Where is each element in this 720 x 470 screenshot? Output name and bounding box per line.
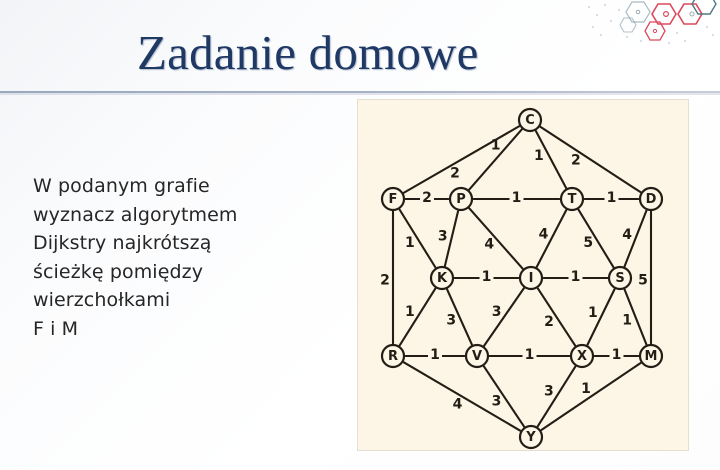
graph-node-label-F: F (389, 192, 398, 207)
weighted-graph-diagram: 211221112344545111332111114331 CFPTDKISR… (358, 100, 688, 450)
graph-node-label-I: I (529, 271, 534, 286)
graph-edge-weight-T-D: 1 (607, 190, 617, 206)
graph-edge-weight-C-T: 1 (534, 148, 544, 164)
graph-node-label-K: K (437, 271, 448, 286)
graph-edge-weight-S-M: 1 (622, 312, 632, 328)
graph-edge-weight-V-X: 1 (525, 347, 535, 363)
graph-edge-weight-R-Y: 4 (453, 396, 463, 412)
graph-node-M: M (640, 345, 662, 367)
graph-edge-I-V (484, 288, 524, 345)
graph-edge-weight-P-K: 3 (438, 228, 448, 244)
graph-figure-panel: 211221112344545111332111114331 CFPTDKISR… (358, 100, 688, 450)
graph-edge-weight-D-S: 4 (622, 227, 632, 243)
graph-node-X: X (571, 345, 593, 367)
graph-node-V: V (466, 345, 488, 367)
graph-edge-weight-I-S: 1 (571, 269, 581, 285)
graph-edge-weight-F-K: 1 (405, 235, 415, 251)
graph-edge-weight-C-D: 2 (571, 153, 581, 169)
graph-edge-weight-P-I: 4 (484, 236, 494, 252)
graph-node-F: F (382, 188, 404, 210)
graph-node-label-S: S (615, 271, 624, 286)
graph-node-I: I (520, 267, 542, 289)
graph-edge-V-Y (484, 366, 524, 426)
graph-edge-weight-I-V: 3 (492, 304, 502, 320)
graph-edge-weight-F-R: 2 (380, 273, 390, 289)
graph-node-label-V: V (472, 349, 482, 364)
graph-node-P: P (450, 188, 472, 210)
graph-node-S: S (609, 267, 631, 289)
graph-edge-C-D (540, 127, 640, 192)
slide-canvas: Zadanie domowe W podanym grafie wyznacz … (0, 0, 720, 470)
graph-edge-weight-V-Y: 3 (492, 393, 502, 409)
graph-edge-weight-I-X: 2 (544, 314, 554, 330)
graph-node-label-X: X (577, 349, 587, 364)
graph-edge-weight-M-Y: 1 (581, 381, 591, 397)
graph-edge-weight-F-C: 2 (450, 166, 460, 182)
graph-node-Y: Y (520, 426, 542, 448)
graph-edge-weight-K-I: 1 (482, 269, 492, 285)
body-paragraph: W podanym grafie wyznacz algorytmem Dijk… (33, 172, 333, 343)
page-title: Zadanie domowe (137, 22, 479, 84)
graph-edge-F-C (404, 126, 519, 193)
graph-edge-weight-R-V: 1 (430, 347, 440, 363)
graph-edge-weight-X-Y: 3 (544, 384, 554, 400)
graph-node-layer: CFPTDKISRVXMY (382, 109, 662, 448)
graph-edge-weight-K-R: 1 (405, 304, 415, 320)
title-block: Zadanie domowe (0, 22, 720, 92)
graph-node-C: C (519, 109, 541, 131)
graph-node-T: T (561, 188, 583, 210)
graph-edge-weight-D-M: 5 (638, 273, 648, 289)
title-divider-shadow (0, 93, 720, 95)
graph-node-K: K (431, 267, 453, 289)
graph-node-label-P: P (456, 192, 466, 207)
graph-edge-weight-S-X: 1 (588, 305, 598, 321)
graph-edge-weight-X-M: 1 (612, 347, 622, 363)
graph-edge-weight-K-V: 3 (446, 313, 456, 329)
graph-node-D: D (640, 188, 662, 210)
graph-edge-weight-F-P: 2 (422, 190, 432, 206)
graph-node-label-T: T (568, 192, 577, 207)
graph-node-label-C: C (525, 113, 535, 128)
graph-node-label-D: D (646, 192, 657, 207)
graph-edge-weight-P-T: 1 (512, 190, 522, 206)
graph-node-label-R: R (388, 349, 398, 364)
graph-node-label-Y: Y (525, 430, 536, 445)
graph-edge-P-I (469, 208, 522, 268)
graph-edge-weight-C-P: 1 (491, 138, 501, 154)
graph-node-R: R (382, 345, 404, 367)
graph-edge-weight-T-S: 5 (583, 235, 593, 251)
graph-node-label-M: M (645, 349, 658, 364)
graph-edge-weight-T-I: 4 (539, 226, 549, 242)
